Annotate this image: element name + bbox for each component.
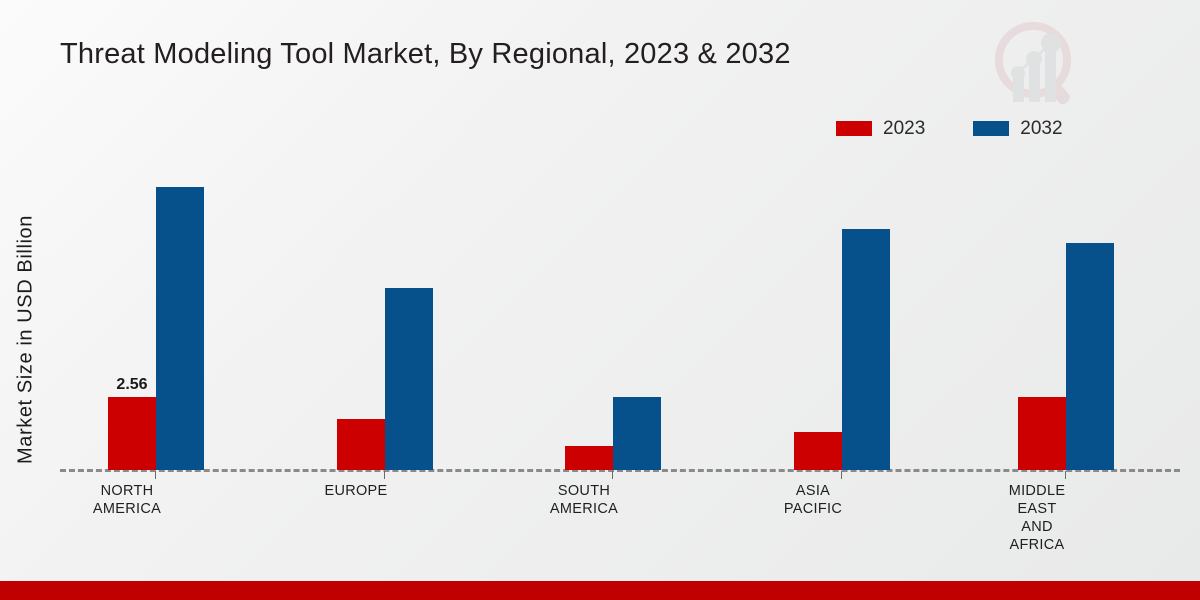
x-axis-tick	[612, 471, 613, 479]
plot-area: 2.56	[44, 160, 1192, 470]
x-axis-label-middle-east-and-africa: MIDDLEEASTANDAFRICA	[962, 482, 1112, 554]
chart-legend: 2023 2032	[836, 119, 1063, 138]
bar-2023-europe[interactable]	[337, 419, 385, 470]
bar-2023-middle-east-and-africa[interactable]	[1018, 397, 1066, 470]
x-axis-label-europe: EUROPE	[281, 482, 431, 500]
legend-swatch-2032	[973, 121, 1009, 136]
bar-value-label: 2.56	[116, 376, 147, 394]
x-axis-label-north-america: NORTHAMERICA	[52, 482, 202, 518]
bar-2032-asia-pacific[interactable]	[842, 229, 890, 470]
bar-group	[565, 160, 661, 470]
legend-label-2032: 2032	[1020, 119, 1062, 138]
bar-group: 2.56	[108, 160, 204, 470]
footer-bar	[0, 581, 1200, 600]
x-axis-tick	[384, 471, 385, 479]
bar-group	[1018, 160, 1114, 470]
x-axis-tick	[1065, 471, 1066, 479]
watermark-logo-icon	[985, 14, 1090, 114]
bar-2032-middle-east-and-africa[interactable]	[1066, 243, 1114, 470]
bar-2023-asia-pacific[interactable]	[794, 432, 842, 470]
legend-item-2032[interactable]: 2032	[973, 119, 1062, 138]
page-title: Threat Modeling Tool Market, By Regional…	[60, 34, 791, 74]
x-axis-tick	[155, 471, 156, 479]
legend-label-2023: 2023	[883, 119, 925, 138]
x-axis-label-south-america: SOUTHAMERICA	[509, 482, 659, 518]
x-axis-tick	[841, 471, 842, 479]
legend-item-2023[interactable]: 2023	[836, 119, 925, 138]
bar-group	[337, 160, 433, 470]
bar-2032-south-america[interactable]	[613, 397, 661, 470]
legend-swatch-2023	[836, 121, 872, 136]
bar-2023-south-america[interactable]	[565, 446, 613, 470]
bar-2023-north-america[interactable]: 2.56	[108, 397, 156, 470]
bar-2032-north-america[interactable]	[156, 187, 204, 470]
x-axis-label-asia-pacific: ASIAPACIFIC	[738, 482, 888, 518]
y-axis-title: Market Size in USD Billion	[15, 175, 38, 505]
chart-container: Threat Modeling Tool Market, By Regional…	[0, 0, 1200, 600]
bar-2032-europe[interactable]	[385, 288, 433, 470]
bar-group	[794, 160, 890, 470]
